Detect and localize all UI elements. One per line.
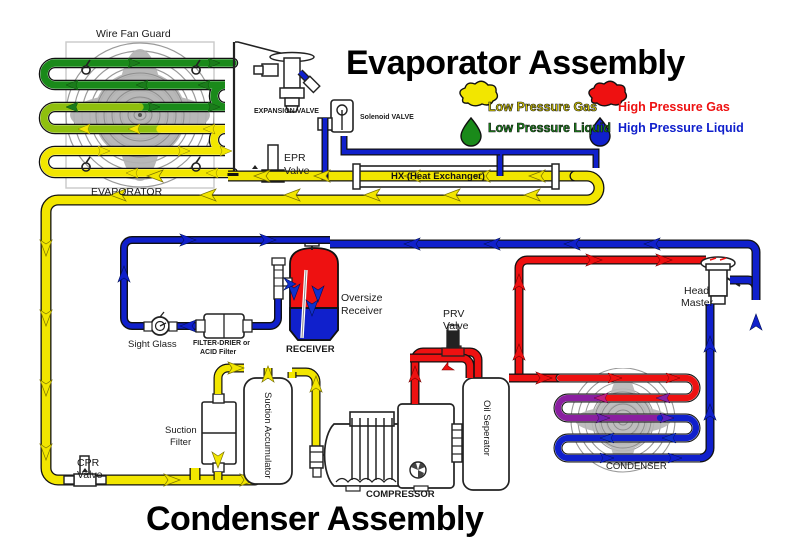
filter-drier: [196, 314, 252, 338]
label-receiver: RECEIVER: [286, 344, 335, 355]
label-evaporator: EVAPORATOR: [91, 186, 162, 198]
suction-filter: [195, 362, 244, 480]
legend-label-low-pressure-liquid: Low Pressure Liquid: [488, 121, 611, 135]
label-oil-separator: Oil Seperator: [481, 400, 492, 456]
legend-label-high-pressure-gas: High Pressure Gas: [618, 100, 730, 114]
label-suction-filter-line1: Suction: [165, 425, 197, 436]
label-suction-filter-line2: Filter: [170, 437, 191, 448]
receiver: [272, 238, 338, 340]
label-solenoid-valve: Solenoid VALVE: [360, 114, 414, 121]
label-prv-valve-line1: PRV: [443, 308, 464, 320]
label-heat-exchanger: HX (Heat Exchanger): [391, 171, 485, 182]
label-filter-drier-line1: FILTER-DRIER or: [193, 340, 250, 347]
compressor: [325, 404, 462, 491]
label-wire-fan-guard: Wire Fan Guard: [96, 28, 171, 40]
legend-label-low-pressure-gas: Low Pressure Gas: [488, 100, 597, 114]
label-compressor: COMPRESSOR: [366, 489, 435, 500]
label-suction-accumulator: Suction Accumulator: [262, 392, 273, 479]
label-epr-valve-line2: Valve: [284, 165, 310, 177]
legend-label-high-pressure-liquid: High Pressure Liquid: [618, 121, 744, 135]
label-epr-valve-line1: EPR: [284, 152, 306, 164]
page-title-evaporator: Evaporator Assembly: [346, 44, 685, 83]
diagram-canvas: Evaporator Assembly Condenser Assembly L…: [0, 0, 800, 560]
hot-gas-line: [509, 254, 706, 384]
page-title-condenser: Condenser Assembly: [146, 500, 483, 539]
label-cpr-valve-line1: CPR: [77, 457, 99, 469]
low-pressure-liquid-icon: [461, 118, 481, 146]
label-sight-glass: Sight Glass: [128, 339, 177, 350]
label-prv-valve-line2: Valve: [443, 320, 469, 332]
label-oversize-receiver-line2: Receiver: [341, 305, 382, 317]
refrigeration-schematic: [0, 0, 800, 560]
label-head-master-line2: Master: [681, 297, 713, 309]
label-cpr-valve-line2: Valve: [77, 469, 103, 481]
label-oversize-receiver-line1: Oversize: [341, 292, 382, 304]
label-head-master-line1: Head: [684, 285, 709, 297]
label-condenser: CONDENSER: [606, 461, 667, 472]
sight-glass: [144, 312, 177, 335]
label-expansion-valve: EXPANSION VALVE: [254, 108, 319, 115]
label-filter-drier-line2: ACID Filter: [200, 349, 236, 356]
